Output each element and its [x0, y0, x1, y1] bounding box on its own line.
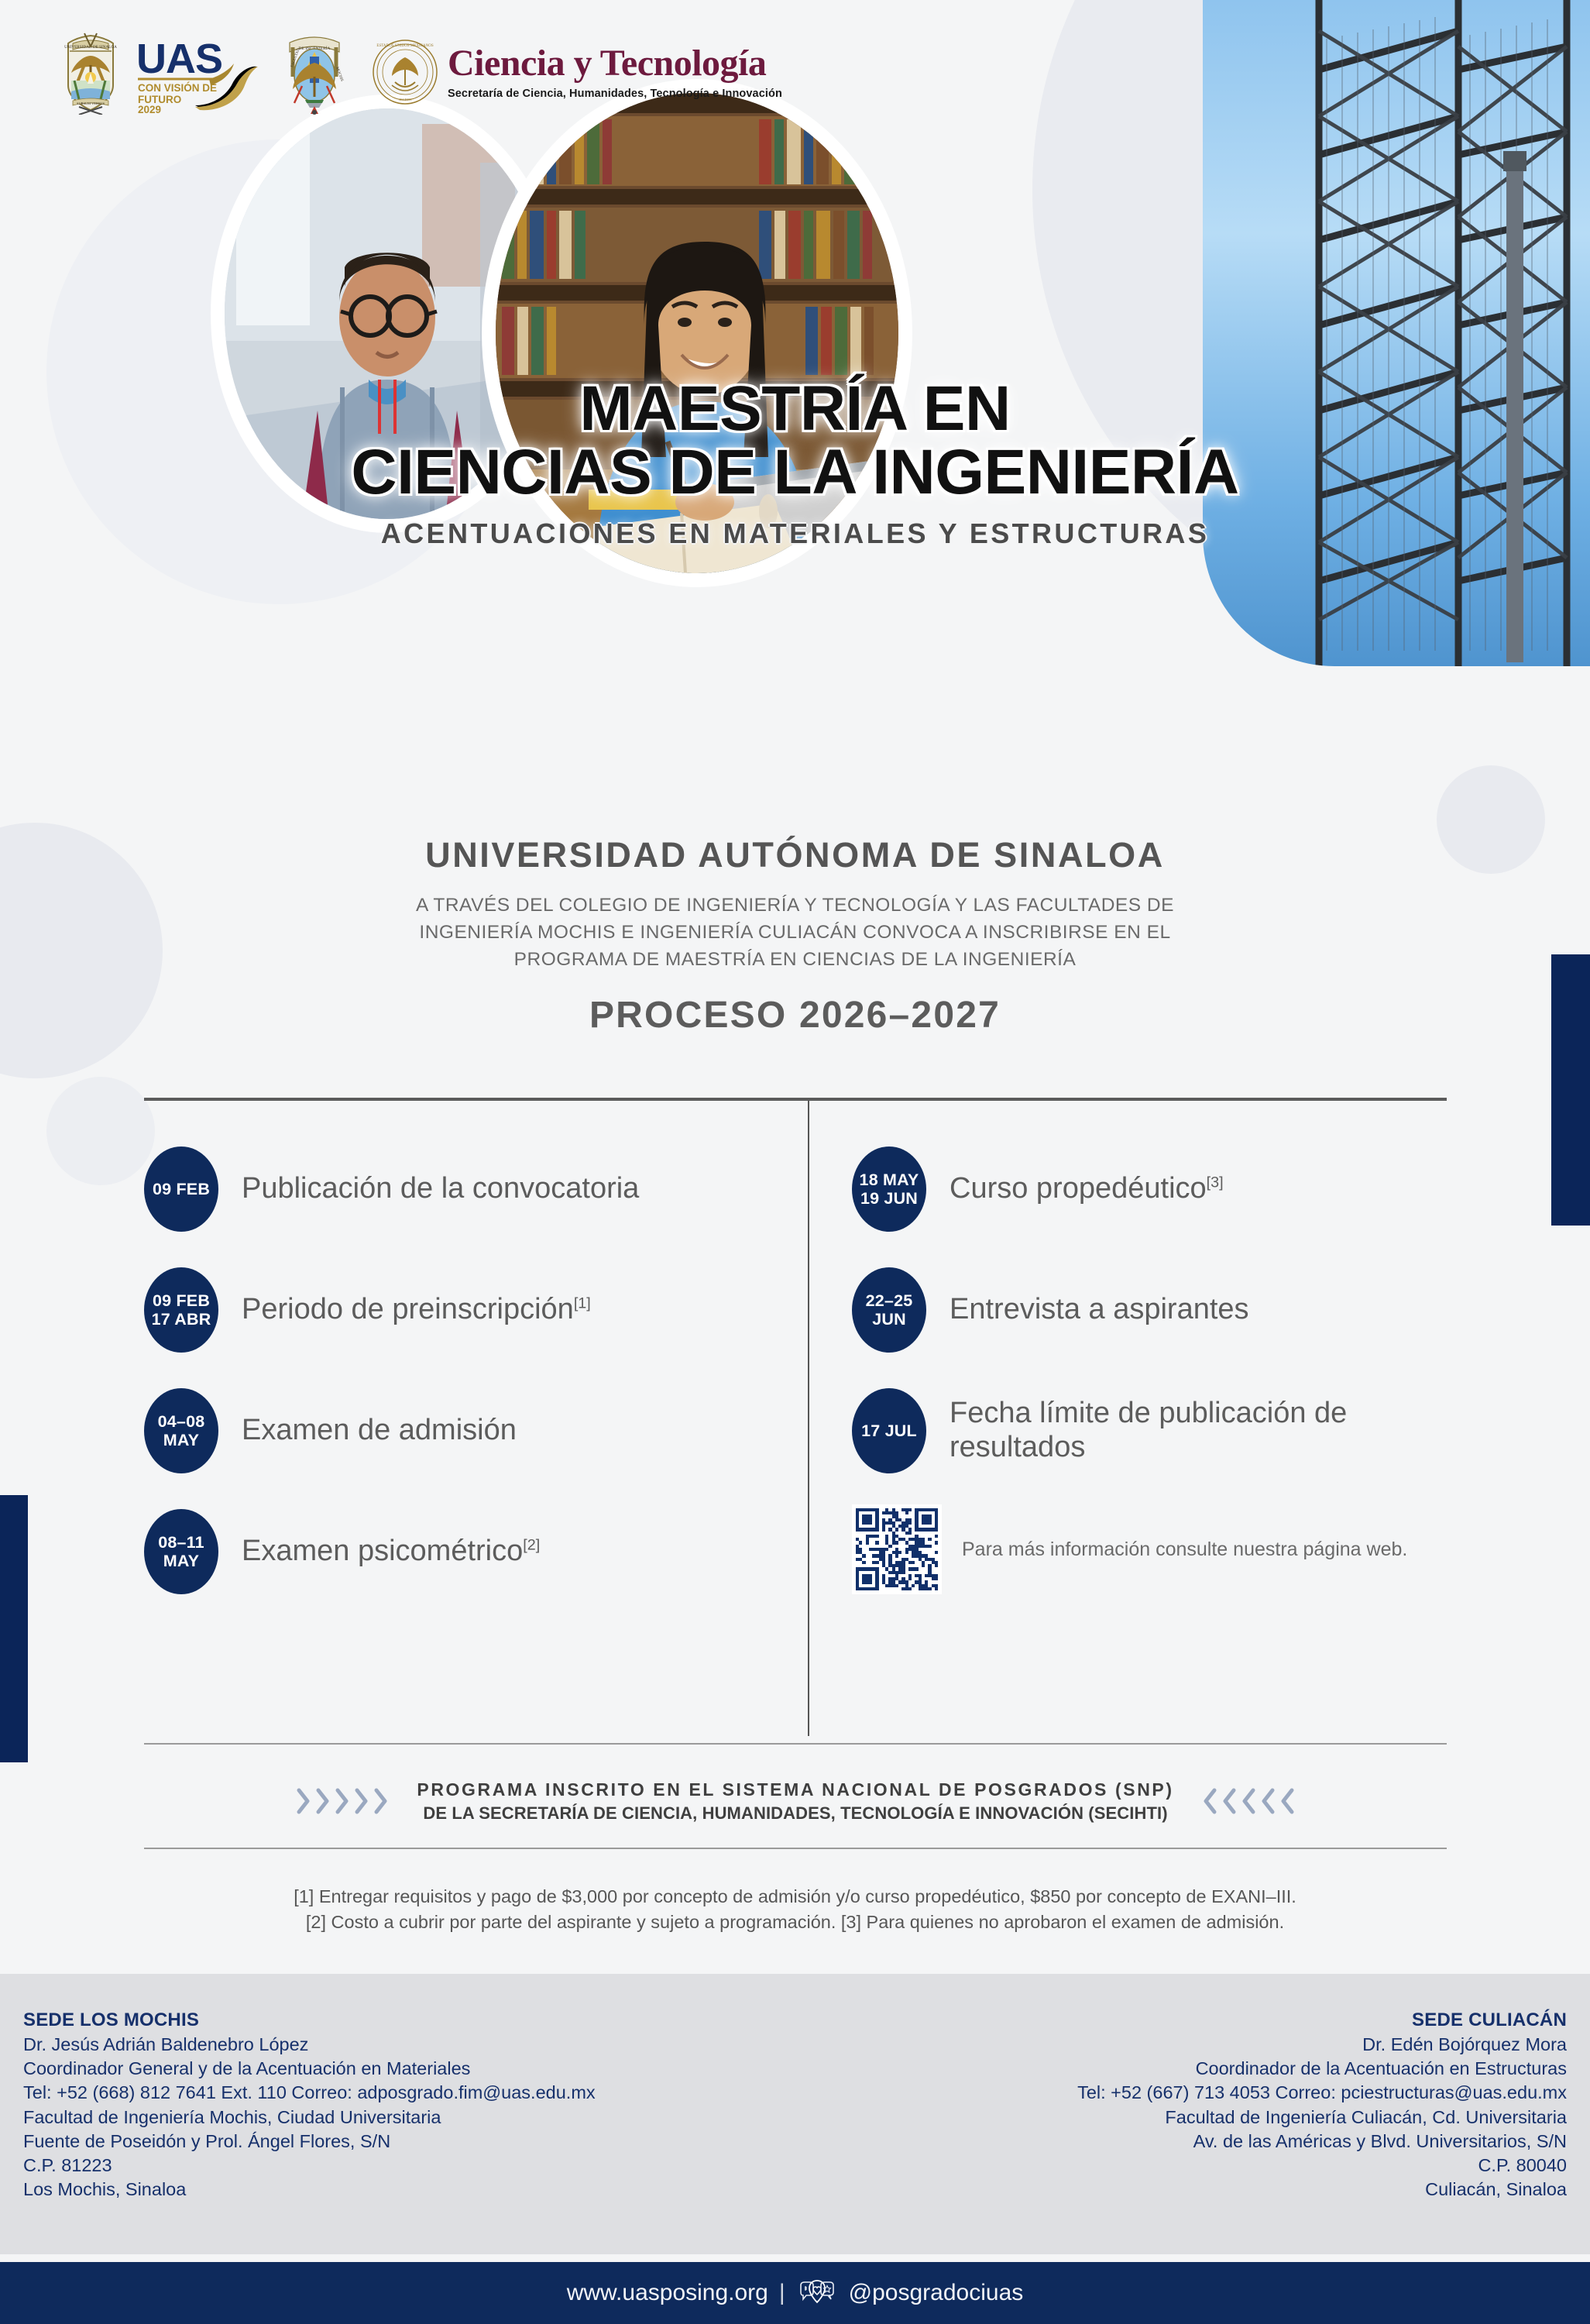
chevron-right-icon — [315, 1788, 331, 1814]
contact-line: Dr. Jesús Adrián Baldenebro López — [23, 2033, 596, 2057]
contact-line: C.P. 81223 — [23, 2154, 596, 2178]
chevron-left-icon — [1241, 1788, 1256, 1814]
timeline-item: 22–25 JUN Entrevista a aspirantes — [852, 1267, 1464, 1353]
timeline-column-left: 09 FEB Publicación de la convocatoria 09… — [144, 1147, 779, 1630]
timeline-bottom-rule — [144, 1743, 1447, 1745]
contact-line: C.P. 80040 — [1077, 2154, 1567, 2178]
svg-text:SECIHTI: SECIHTI — [399, 98, 412, 101]
timeline-item: 17 JUL Fecha límite de publicación de re… — [852, 1388, 1464, 1473]
contact-line: Facultad de Ingeniería Mochis, Ciudad Un… — [23, 2106, 596, 2130]
snp-line-2: DE LA SECRETARÍA DE CIENCIA, HUMANIDADES… — [417, 1803, 1173, 1824]
date-badge-line2: 19 JUN — [860, 1189, 918, 1208]
mexico-national-seal-icon: ESTADOS UNIDOS MEXICANOS SECIHTI — [372, 39, 438, 105]
tower-structure-icon — [1203, 0, 1590, 666]
timeline-item: 18 MAY 19 JUN Curso propedéutico[3] — [852, 1147, 1464, 1232]
chevrons-left-group — [1202, 1788, 1295, 1814]
contact-line: Tel: +52 (667) 713 4053 Correo: pciestru… — [1077, 2081, 1567, 2105]
date-badge-line2: 17 ABR — [152, 1310, 211, 1329]
contact-line: Av. de las Américas y Blvd. Universitari… — [1077, 2130, 1567, 2154]
timeline-column-right: 18 MAY 19 JUN Curso propedéutico[3] 22–2… — [852, 1147, 1464, 1594]
date-badge: 08–11 MAY — [144, 1509, 218, 1594]
chevron-left-icon — [1279, 1788, 1295, 1814]
bottom-bar-content: www.uasposing.org | @posgradociuas — [567, 2279, 1024, 2307]
date-badge-line2: MAY — [163, 1431, 199, 1450]
date-badge-line1: 17 JUL — [861, 1422, 917, 1441]
contact-line: Facultad de Ingeniería Culiacán, Cd. Uni… — [1077, 2106, 1567, 2130]
timeline-item: 09 FEB 17 ABR Periodo de preinscripción[… — [144, 1267, 779, 1353]
contact-line: Los Mochis, Sinaloa — [23, 2178, 596, 2202]
page-title-line2: CIENCIAS DE LA INGENIERÍA — [0, 440, 1590, 505]
date-badge-line1: 18 MAY — [860, 1171, 919, 1190]
timeline-item-label: Entrevista a aspirantes — [950, 1293, 1249, 1327]
footnotes: [1] Entregar requisitos y pago de $3,000… — [46, 1884, 1544, 1936]
timeline-top-rule — [144, 1098, 1447, 1101]
date-badge: 04–08 MAY — [144, 1388, 218, 1473]
snp-line-1: PROGRAMA INSCRITO EN EL SISTEMA NACIONAL… — [417, 1779, 1173, 1800]
footnote-line-2: [2] Costo a cubrir por parte del aspiran… — [46, 1910, 1544, 1935]
snp-bottom-rule — [144, 1848, 1447, 1849]
poster-title-block: MAESTRÍA EN CIENCIAS DE LA INGENIERÍA AC… — [0, 378, 1590, 550]
svg-text:2029: 2029 — [138, 104, 161, 113]
timeline-item-label: Curso propedéutico[3] — [950, 1172, 1224, 1206]
chevron-left-icon — [1202, 1788, 1217, 1814]
secretaria-title: Ciencia y Tecnología — [448, 45, 782, 82]
contact-line: Coordinador General y de la Acentuación … — [23, 2057, 596, 2081]
chevron-left-icon — [1260, 1788, 1276, 1814]
convocatoria-line-3: PROGRAMA DE MAESTRÍA EN CIENCIAS DE LA I… — [232, 947, 1358, 974]
contact-heading-mochis: SEDE LOS MOCHIS — [23, 2008, 596, 2033]
page-subtitle: ACENTUACIONES EN MATERIALES Y ESTRUCTURA… — [0, 517, 1590, 550]
qr-code-block[interactable]: Para más información consulte nuestra pá… — [852, 1504, 1464, 1594]
convocatoria-line-1: A TRAVÉS DEL COLEGIO DE INGENIERÍA Y TEC… — [232, 892, 1358, 920]
timeline-label-text: Curso propedéutico — [950, 1172, 1207, 1205]
timeline-column-divider — [808, 1101, 809, 1736]
contact-line: Coordinador de la Acentuación en Estruct… — [1077, 2057, 1567, 2081]
uas-shield-logo: UNIVERSIDAD DE SINALOA SURSUM VERSUS — [60, 29, 121, 115]
contact-block-culiacan: SEDE CULIACÁN Dr. Edén Bojórquez Mora Co… — [1077, 2008, 1567, 2202]
qr-code-modules — [856, 1508, 938, 1590]
contact-line: Fuente de Poseidón y Prol. Ángel Flores,… — [23, 2130, 596, 2154]
date-badge-line2: JUN — [872, 1310, 906, 1329]
timeline-item-label: Examen de admisión — [242, 1414, 517, 1448]
bottom-bar: www.uasposing.org | @posgradociuas — [0, 2262, 1590, 2324]
contact-heading-culiacan: SEDE CULIACÁN — [1077, 2008, 1567, 2033]
timeline-item: 08–11 MAY Examen psicométrico[2] — [144, 1509, 779, 1594]
chevron-right-icon — [373, 1788, 389, 1814]
svg-text:CON VISIÓN DE: CON VISIÓN DE — [138, 82, 217, 94]
svg-text:UAS: UAS — [136, 36, 222, 82]
timeline-label-text: Periodo de preinscripción — [242, 1293, 574, 1325]
facultad-ingenieria-mochis-logo: DE INGENIERÍA FACULTAD MOCHIS — [282, 29, 347, 115]
timeline-label-text: Entrevista a aspirantes — [950, 1293, 1249, 1325]
timeline-label-text: Fecha límite de publicación de resultado… — [950, 1397, 1347, 1463]
contact-line: Tel: +52 (668) 812 7641 Ext. 110 Correo:… — [23, 2081, 596, 2105]
chevrons-right-group — [296, 1788, 389, 1814]
page-title-line1: MAESTRÍA EN — [0, 378, 1590, 440]
chevron-right-icon — [296, 1788, 311, 1814]
header-logos: UNIVERSIDAD DE SINALOA SURSUM VERSUS UAS… — [60, 29, 782, 115]
uas-wordmark-logo: UAS CON VISIÓN DE FUTURO 2029 — [135, 31, 259, 113]
date-badge: 09 FEB — [144, 1147, 218, 1232]
chevron-right-icon — [335, 1788, 350, 1814]
footnote-marker: [1] — [574, 1295, 591, 1312]
uas-wordmark-icon: UAS CON VISIÓN DE FUTURO 2029 — [135, 31, 259, 113]
date-badge: 22–25 JUN — [852, 1267, 926, 1353]
date-badge-line1: 09 FEB — [153, 1291, 210, 1311]
website-url[interactable]: www.uasposing.org — [567, 2280, 768, 2306]
bottom-bar-separator: | — [779, 2280, 785, 2306]
qr-code[interactable] — [852, 1504, 942, 1594]
timeline-item-label: Fecha límite de publicación de resultado… — [950, 1397, 1464, 1464]
university-name: UNIVERSIDAD AUTÓNOMA DE SINALOA — [0, 835, 1590, 875]
snp-text: PROGRAMA INSCRITO EN EL SISTEMA NACIONAL… — [417, 1779, 1173, 1824]
contact-line: Culiacán, Sinaloa — [1077, 2178, 1567, 2202]
date-badge-line1: 09 FEB — [153, 1180, 210, 1199]
convocatoria-paragraph: A TRAVÉS DEL COLEGIO DE INGENIERÍA Y TEC… — [232, 892, 1358, 973]
chevron-left-icon — [1221, 1788, 1237, 1814]
facultad-ingenieria-coat-of-arms-icon: DE INGENIERÍA FACULTAD MOCHIS — [282, 29, 347, 115]
timeline-label-text: Examen psicométrico — [242, 1535, 523, 1567]
svg-text:SURSUM VERSUS: SURSUM VERSUS — [77, 101, 105, 105]
qr-code-caption: Para más información consulte nuestra pá… — [962, 1537, 1407, 1563]
snp-banner: PROGRAMA INSCRITO EN EL SISTEMA NACIONAL… — [144, 1762, 1447, 1840]
date-badge-line1: 08–11 — [158, 1533, 204, 1552]
secihti-logo-block: ESTADOS UNIDOS MEXICANOS SECIHTI Ciencia… — [372, 39, 782, 105]
accent-bar-left — [0, 1495, 28, 1762]
date-badge-line1: 04–08 — [158, 1412, 205, 1432]
contact-block-mochis: SEDE LOS MOCHIS Dr. Jesús Adrián Baldene… — [23, 2008, 596, 2202]
contact-footer: SEDE LOS MOCHIS Dr. Jesús Adrián Baldene… — [0, 1974, 1590, 2254]
decorative-circle-small-left — [46, 1077, 155, 1185]
date-badge: 09 FEB 17 ABR — [144, 1267, 218, 1353]
timeline-item-label: Periodo de preinscripción[1] — [242, 1293, 591, 1327]
timeline-label-text: Examen de admisión — [242, 1414, 517, 1446]
footnote-marker: [3] — [1207, 1174, 1224, 1191]
social-media-icon — [796, 2279, 838, 2307]
timeline-label-text: Publicación de la convocatoria — [242, 1172, 639, 1205]
date-badge: 17 JUL — [852, 1388, 926, 1473]
proceso-heading: PROCESO 2026–2027 — [0, 994, 1590, 1037]
timeline-item: 09 FEB Publicación de la convocatoria — [144, 1147, 779, 1232]
secretaria-subtitle: Secretaría de Ciencia, Humanidades, Tecn… — [448, 88, 782, 100]
chevron-right-icon — [354, 1788, 369, 1814]
date-badge-line2: MAY — [163, 1552, 199, 1571]
uas-coat-of-arms-icon: UNIVERSIDAD DE SINALOA SURSUM VERSUS — [60, 29, 121, 115]
contact-line: Dr. Edén Bojórquez Mora — [1077, 2033, 1567, 2057]
date-badge-line1: 22–25 — [866, 1291, 913, 1311]
footnote-line-1: [1] Entregar requisitos y pago de $3,000… — [46, 1884, 1544, 1910]
svg-text:ESTADOS UNIDOS MEXICANOS: ESTADOS UNIDOS MEXICANOS — [376, 44, 433, 48]
timeline-item-label: Examen psicométrico[2] — [242, 1535, 540, 1569]
transmission-tower-photo — [1203, 0, 1590, 666]
timeline-item-label: Publicación de la convocatoria — [242, 1172, 639, 1206]
timeline-item: 04–08 MAY Examen de admisión — [144, 1388, 779, 1473]
date-badge: 18 MAY 19 JUN — [852, 1147, 926, 1232]
social-handle[interactable]: @posgradociuas — [849, 2280, 1024, 2306]
footnote-marker: [2] — [523, 1537, 540, 1554]
convocatoria-line-2: INGENIERÍA MOCHIS E INGENIERÍA CULIACÁN … — [232, 920, 1358, 947]
